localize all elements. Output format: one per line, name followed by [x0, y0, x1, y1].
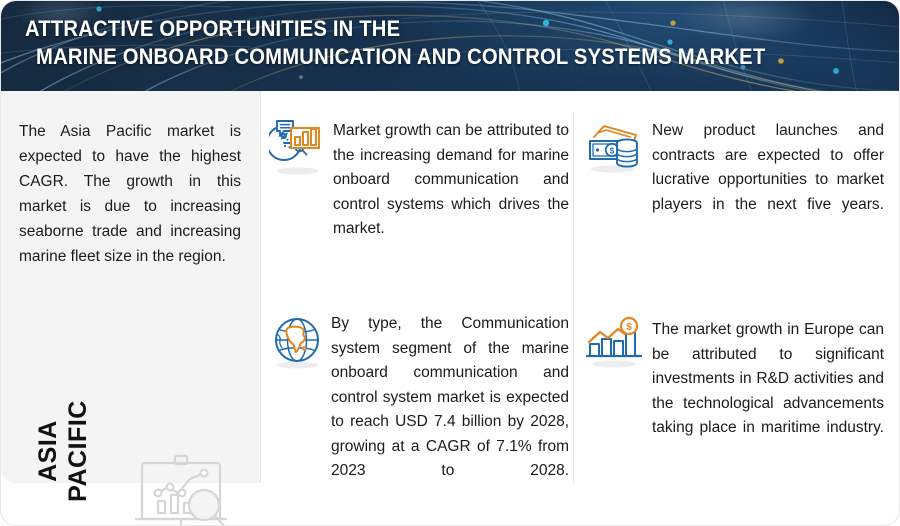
- cell-communication-segment-text: By type, the Communication system segmen…: [331, 312, 569, 508]
- vertical-divider-left: [260, 91, 261, 483]
- svg-text:$: $: [626, 322, 632, 333]
- cell-market-growth-text: Market growth can be attributed to the i…: [333, 119, 569, 266]
- vertical-divider-middle: [573, 113, 574, 483]
- title-line-2: MARINE ONBOARD COMMUNICATION AND CONTROL…: [25, 43, 765, 71]
- cell-europe-growth-text: The market growth in Europe can be attri…: [652, 318, 884, 465]
- globe-africa-icon: [269, 316, 325, 377]
- asia-pacific-paragraph: The Asia Pacific market is expected to h…: [19, 119, 241, 269]
- presentation-chart-magnifier-icon: [132, 453, 236, 526]
- money-cash-coins-icon: $: [584, 119, 642, 182]
- infographic-card: ATTRACTIVE OPPORTUNITIES IN THEMARINE ON…: [0, 0, 900, 526]
- title-line-1: ATTRACTIVE OPPORTUNITIES IN THE: [25, 16, 400, 41]
- report-pie-bar-chart-icon: [269, 119, 327, 182]
- cell-new-product-launches-text: New product launches and contracts are e…: [652, 119, 884, 242]
- region-label-asia-pacific: ASIA PACIFIC: [33, 386, 93, 516]
- svg-text:$: $: [610, 146, 615, 155]
- asia-pacific-panel: The Asia Pacific market is expected to h…: [1, 91, 260, 483]
- header-banner: ATTRACTIVE OPPORTUNITIES IN THEMARINE ON…: [1, 1, 900, 91]
- bar-chart-growth-dollar-icon: $: [584, 316, 644, 377]
- page-title: ATTRACTIVE OPPORTUNITIES IN THEMARINE ON…: [25, 15, 765, 71]
